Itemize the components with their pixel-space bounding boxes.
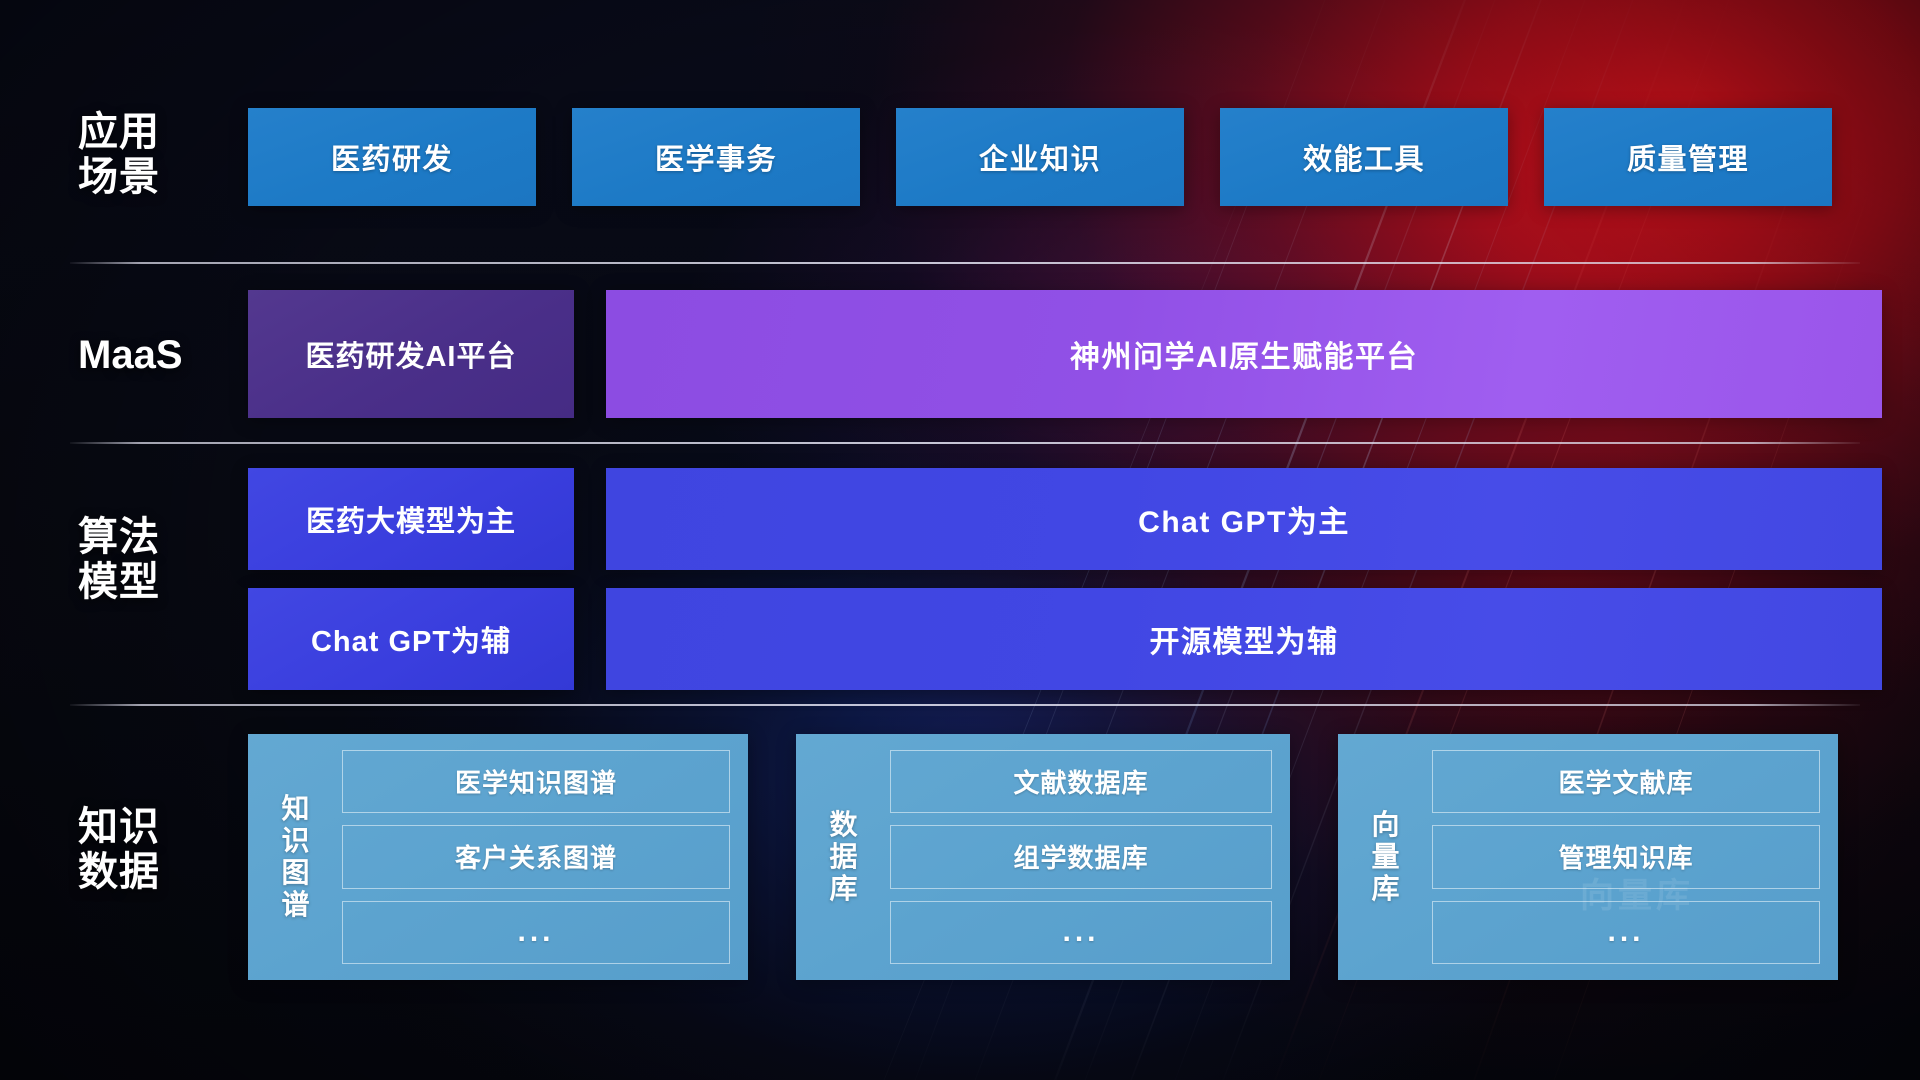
app-box-3[interactable]: 效能工具 [1220,108,1508,206]
app-box-4[interactable]: 质量管理 [1544,108,1832,206]
knowledge-card-1-vchar-1: 据 [829,841,858,873]
divider-3 [70,704,1860,706]
knowledge-card-vector-db[interactable]: 向量库 向 量 库 医学文献库 管理知识库 ... [1338,734,1838,980]
algo-right-label-1: 开源模型为辅 [1150,617,1339,661]
application-scenario-row: 医药研发 医学事务 企业知识 效能工具 质量管理 [248,108,1832,206]
knowledge-item-2-2[interactable]: ... [1432,901,1820,964]
algo-left-label-0: 医药大模型为主 [306,498,516,540]
knowledge-card-1-vertical-label: 数 据 库 [810,750,872,964]
knowledge-card-database[interactable]: 数 据 库 文献数据库 组学数据库 ... [796,734,1290,980]
knowledge-item-0-1[interactable]: 客户关系图谱 [342,825,730,888]
algo-left-label-1: Chat GPT为辅 [311,618,511,660]
maas-left-box[interactable]: 医药研发AI平台 [248,290,574,418]
row-label-knowledge-data: 知识 数据 [78,805,238,895]
app-box-0[interactable]: 医药研发 [248,108,536,206]
maas-left-label: 医药研发AI平台 [305,333,516,375]
knowledge-item-label-0-0: 医学知识图谱 [455,763,617,800]
app-box-1[interactable]: 医学事务 [572,108,860,206]
knowledge-card-1-vchar-0: 数 [829,809,858,841]
row-label-maas: MaaS [78,333,238,378]
algo-right-box-1[interactable]: 开源模型为辅 [606,588,1882,690]
knowledge-item-2-1[interactable]: 管理知识库 [1432,825,1820,888]
knowledge-item-label-2-0: 医学文献库 [1558,763,1693,800]
knowledge-item-label-2-1: 管理知识库 [1558,838,1693,875]
algo-left-box-1[interactable]: Chat GPT为辅 [248,588,574,690]
maas-right-label: 神州问学AI原生赋能平台 [1070,332,1418,376]
knowledge-item-0-2[interactable]: ... [342,901,730,964]
knowledge-data-row: 知 识 图 谱 医学知识图谱 客户关系图谱 ... [248,734,1838,980]
knowledge-card-1-items: 文献数据库 组学数据库 ... [872,750,1272,964]
app-box-label-3: 效能工具 [1303,136,1425,178]
knowledge-item-label-0-1: 客户关系图谱 [455,838,617,875]
app-box-label-4: 质量管理 [1627,136,1749,178]
knowledge-item-1-2[interactable]: ... [890,901,1272,964]
knowledge-card-0-items: 医学知识图谱 客户关系图谱 ... [324,750,730,964]
knowledge-item-0-0[interactable]: 医学知识图谱 [342,750,730,813]
divider-2 [70,442,1860,444]
algo-right-label-0: Chat GPT为主 [1138,497,1350,541]
algo-right-box-0[interactable]: Chat GPT为主 [606,468,1882,570]
knowledge-item-label-1-1: 组学数据库 [1013,838,1148,875]
knowledge-item-1-1[interactable]: 组学数据库 [890,825,1272,888]
knowledge-item-label-1-2: ... [1062,915,1099,949]
knowledge-card-2-vchar-2: 库 [1371,873,1400,905]
knowledge-card-2-vchar-1: 量 [1371,841,1400,873]
knowledge-item-2-0[interactable]: 医学文献库 [1432,750,1820,813]
divider-1 [70,262,1860,264]
knowledge-card-2-vertical-label: 向 量 库 [1352,750,1414,964]
diagram-canvas: 应用 场景 医药研发 医学事务 企业知识 效能工具 质量管理 MaaS 医药研发… [0,0,1920,1080]
knowledge-card-knowledge-graph[interactable]: 知 识 图 谱 医学知识图谱 客户关系图谱 ... [248,734,748,980]
algorithm-line-1: Chat GPT为辅 开源模型为辅 [248,588,1882,690]
knowledge-card-0-vchar-1: 识 [281,825,310,857]
app-box-label-0: 医药研发 [331,136,453,178]
knowledge-card-1-vchar-2: 库 [829,873,858,905]
architecture-grid: 应用 场景 医药研发 医学事务 企业知识 效能工具 质量管理 MaaS 医药研发… [0,0,1920,1080]
maas-row: 医药研发AI平台 神州问学AI原生赋能平台 [248,290,1882,418]
algorithm-line-0: 医药大模型为主 Chat GPT为主 [248,468,1882,570]
app-box-label-2: 企业知识 [979,136,1101,178]
knowledge-card-2-items: 医学文献库 管理知识库 ... [1414,750,1820,964]
row-label-application-scenario: 应用 场景 [78,110,238,200]
app-box-label-1: 医学事务 [655,136,777,178]
knowledge-item-1-0[interactable]: 文献数据库 [890,750,1272,813]
algorithm-model-row: 医药大模型为主 Chat GPT为主 Chat GPT为辅 开源模型为辅 [248,468,1882,708]
knowledge-card-0-vchar-0: 知 [281,793,310,825]
knowledge-item-label-1-0: 文献数据库 [1013,763,1148,800]
knowledge-card-0-vchar-3: 谱 [281,889,310,921]
row-label-algorithm-model: 算法 模型 [78,515,238,605]
knowledge-card-0-vchar-2: 图 [281,857,310,889]
knowledge-item-label-2-2: ... [1607,915,1644,949]
knowledge-card-2-vchar-0: 向 [1371,809,1400,841]
knowledge-item-label-0-2: ... [517,915,554,949]
app-box-2[interactable]: 企业知识 [896,108,1184,206]
maas-right-box[interactable]: 神州问学AI原生赋能平台 [606,290,1882,418]
algo-left-box-0[interactable]: 医药大模型为主 [248,468,574,570]
knowledge-card-0-vertical-label: 知 识 图 谱 [262,750,324,964]
